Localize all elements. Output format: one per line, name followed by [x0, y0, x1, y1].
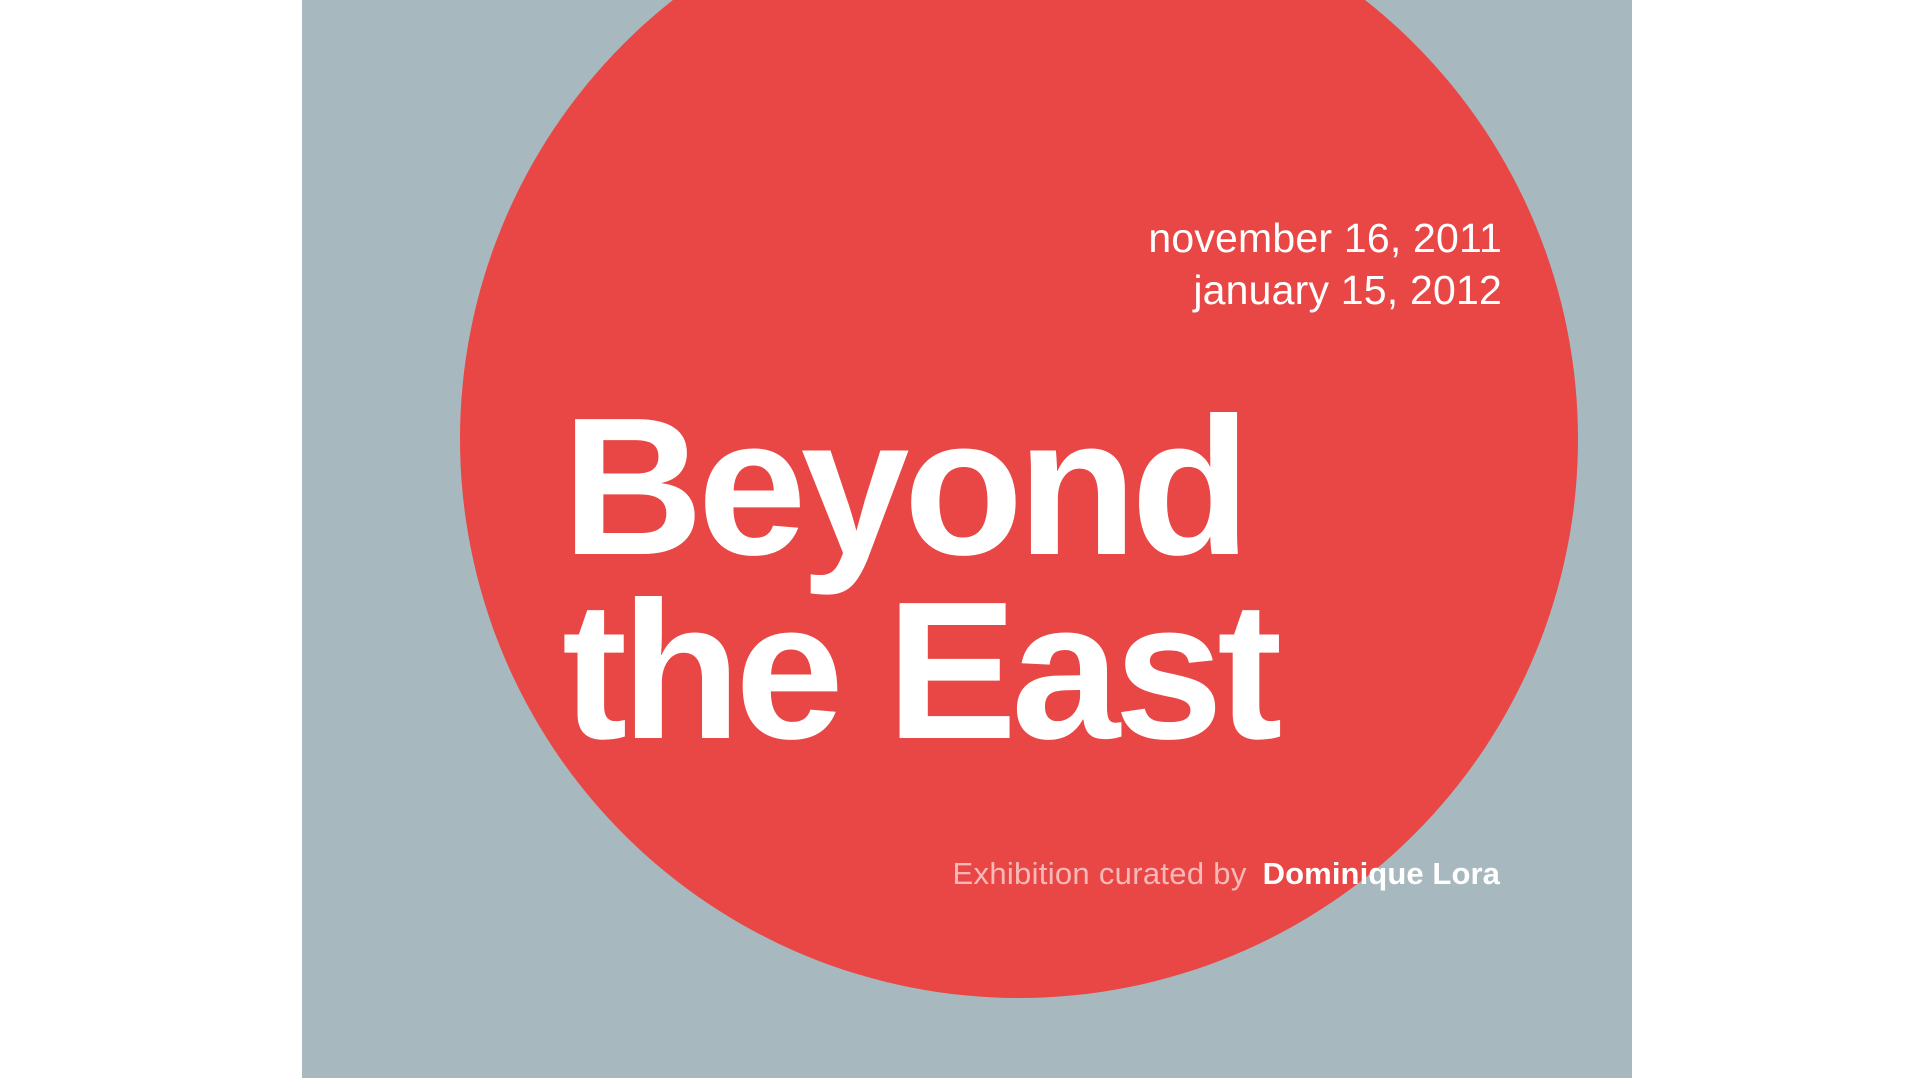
- curator-name: Dominique Lora: [1263, 856, 1500, 891]
- exhibition-end-date: january 15, 2012: [1148, 264, 1502, 316]
- poster-panel: november 16, 2011 january 15, 2012 Beyon…: [302, 0, 1632, 1078]
- poster-title-line-2: the East: [562, 579, 1632, 763]
- poster-title: Beyond the East: [562, 395, 1632, 763]
- curator-credit-prefix: Exhibition curated by: [953, 856, 1247, 891]
- poster-content: november 16, 2011 january 15, 2012 Beyon…: [302, 0, 1632, 1078]
- poster-title-line-1: Beyond: [562, 395, 1632, 579]
- poster-canvas: november 16, 2011 january 15, 2012 Beyon…: [0, 0, 1920, 1080]
- curator-credit: Exhibition curated byDominique Lora: [953, 855, 1500, 892]
- exhibition-dates: november 16, 2011 january 15, 2012: [1148, 212, 1502, 317]
- exhibition-start-date: november 16, 2011: [1148, 212, 1502, 264]
